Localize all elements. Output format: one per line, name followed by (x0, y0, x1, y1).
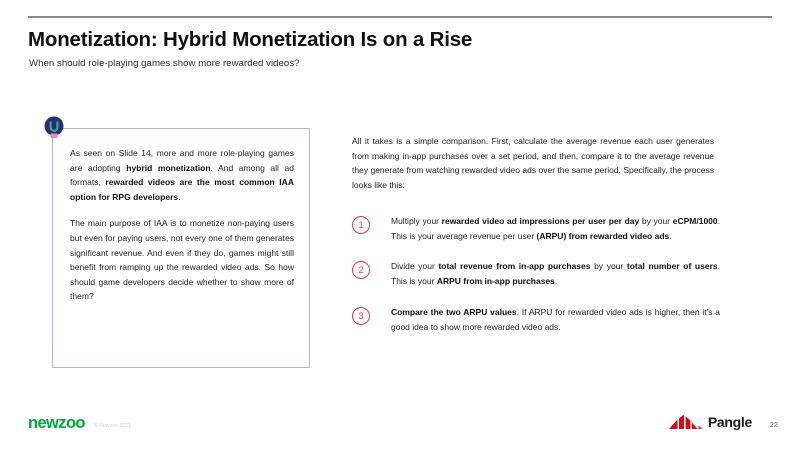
step-text: Multiply your rewarded video ad impressi… (391, 214, 720, 243)
page-subtitle: When should role-playing games show more… (29, 58, 729, 69)
callout-paragraph: As seen on Slide 14, more and more role-… (70, 146, 294, 204)
steps-list: 1 Multiply your rewarded video ad impres… (352, 214, 720, 334)
step-number-badge: 2 (352, 261, 370, 279)
step-number-badge: 1 (352, 216, 370, 234)
step-number-badge: 3 (352, 307, 370, 325)
callout-text: As seen on Slide 14, more and more role-… (70, 146, 294, 304)
newzoo-logo: newzoo (28, 414, 85, 433)
step-text: Compare the two ARPU values. If ARPU for… (391, 305, 720, 334)
lightbulb-icon (43, 115, 65, 145)
intro-paragraph: All it takes is a simple comparison. Fir… (352, 134, 714, 193)
step-text: Divide your total revenue from in-app pu… (391, 259, 720, 288)
header-divider (28, 16, 772, 18)
pangle-logo: Pangle (669, 414, 752, 430)
list-item: 3 Compare the two ARPU values. If ARPU f… (352, 305, 720, 334)
pangle-logo-icon (669, 414, 705, 430)
page-number: 22 (770, 420, 778, 429)
copyright-text: © Newzoo 2021 (94, 423, 131, 429)
list-item: 1 Multiply your rewarded video ad impres… (352, 214, 720, 243)
pangle-wordmark: Pangle (708, 414, 752, 430)
list-item: 2 Divide your total revenue from in-app … (352, 259, 720, 288)
callout-paragraph: The main purpose of IAA is to monetize n… (70, 216, 294, 304)
page-title: Monetization: Hybrid Monetization Is on … (28, 28, 768, 52)
